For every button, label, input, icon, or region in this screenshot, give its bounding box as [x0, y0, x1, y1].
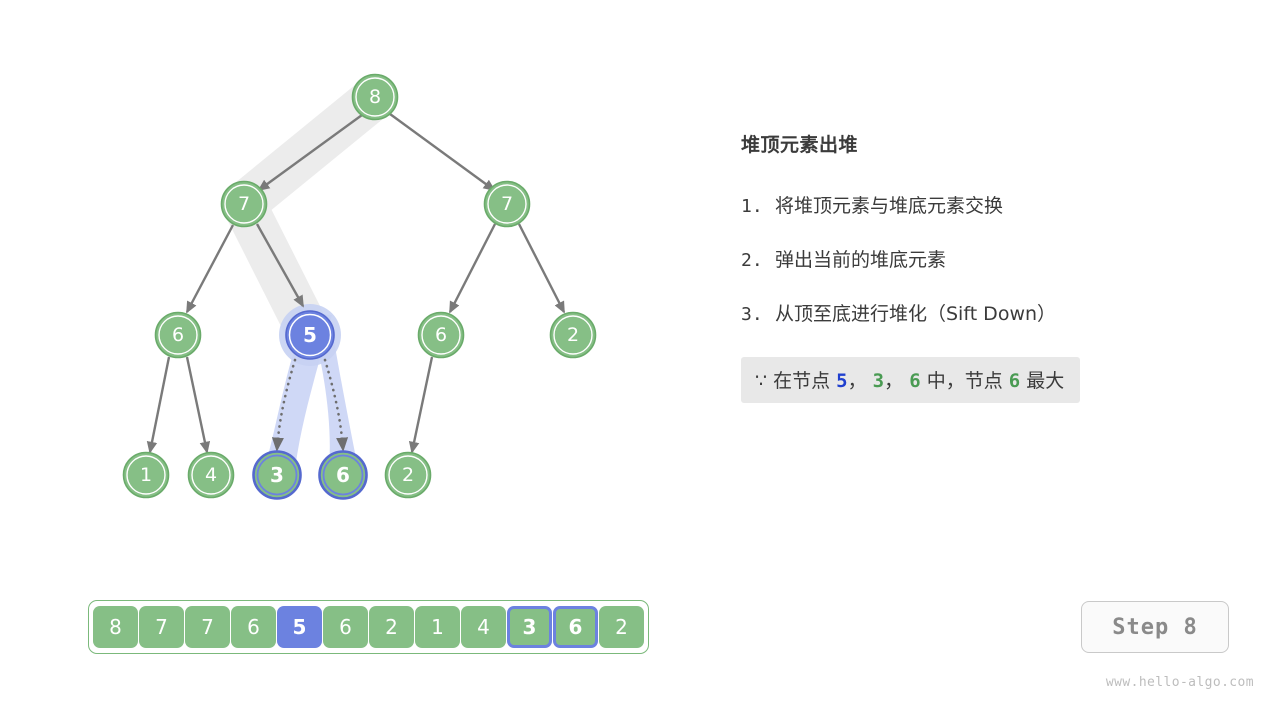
- binary-heap-tree: 8 7 7 6 5: [0, 0, 700, 560]
- explanation-panel: 堆顶元素出堆 1.将堆顶元素与堆底元素交换 2.弹出当前的堆底元素 3.从顶至底…: [741, 130, 1211, 403]
- step-item-2: 2.弹出当前的堆底元素: [741, 245, 1211, 272]
- array-cell-5[interactable]: 6: [323, 606, 368, 648]
- tree-node-2-a[interactable]: 2: [551, 313, 596, 358]
- array-cell-3[interactable]: 6: [231, 606, 276, 648]
- tree-node-8[interactable]: 8: [353, 75, 398, 120]
- tree-node-7-left[interactable]: 7: [222, 182, 267, 227]
- array-cell-4-selected[interactable]: 5: [277, 606, 322, 648]
- tree-node-label: 6: [435, 324, 447, 346]
- tree-node-label: 6: [336, 463, 350, 487]
- array-cell-10-marked[interactable]: 6: [553, 606, 598, 648]
- tree-node-label: 2: [402, 464, 414, 486]
- step-item-1: 1.将堆顶元素与堆底元素交换: [741, 191, 1211, 218]
- edge-7l-6: [187, 225, 233, 312]
- edge-8-7r: [390, 114, 494, 190]
- watermark: www.hello-algo.com: [1106, 675, 1254, 690]
- array-cell-0[interactable]: 8: [93, 606, 138, 648]
- array-cell-9-marked[interactable]: 3: [507, 606, 552, 648]
- formula-middle: 中，节点: [927, 370, 1003, 392]
- array-cell-1[interactable]: 7: [139, 606, 184, 648]
- tree-node-label: 1: [140, 464, 152, 486]
- tree-node-5-selected[interactable]: 5: [286, 311, 334, 359]
- step-text: 弹出当前的堆底元素: [775, 249, 946, 271]
- tree-node-label: 3: [270, 463, 284, 487]
- formula-comma-0: ，: [848, 370, 867, 392]
- formula-value-0: 5: [836, 370, 847, 392]
- tree-node-6-a[interactable]: 6: [156, 313, 201, 358]
- step-text: 将堆顶元素与堆底元素交换: [775, 195, 1003, 217]
- formula-value-2: 6: [909, 370, 920, 392]
- heap-array: 8 7 7 6 5 6 2 1 4 3 6 2: [88, 600, 649, 654]
- page-title: 堆顶元素出堆: [741, 130, 1211, 157]
- tree-node-label: 7: [238, 193, 250, 215]
- edge-7r-2: [519, 224, 564, 312]
- step-number: 1.: [741, 196, 775, 217]
- array-cell-2[interactable]: 7: [185, 606, 230, 648]
- formula-comma-1: ，: [884, 370, 903, 392]
- tree-node-label: 7: [501, 193, 513, 215]
- step-number: 2.: [741, 250, 775, 271]
- edge-6-1: [150, 357, 169, 452]
- tree-node-2-b[interactable]: 2: [386, 453, 431, 498]
- array-cell-6[interactable]: 2: [369, 606, 414, 648]
- edge-6r-2: [412, 357, 432, 452]
- tree-node-7-right[interactable]: 7: [485, 182, 530, 227]
- formula-winner: 6: [1009, 370, 1020, 392]
- tree-node-6-b[interactable]: 6: [419, 313, 464, 358]
- step-item-3: 3.从顶至底进行堆化（Sift Down）: [741, 299, 1211, 326]
- heap-pop-illustration: 8 7 7 6 5: [0, 0, 1280, 720]
- array-cell-8[interactable]: 4: [461, 606, 506, 648]
- tree-node-label: 8: [369, 86, 381, 108]
- tree-node-6-candidate[interactable]: 6: [320, 452, 367, 499]
- because-symbol: ∵: [755, 370, 767, 392]
- formula-prefix: 在节点: [773, 370, 830, 392]
- array-cell-7[interactable]: 1: [415, 606, 460, 648]
- edge-7r-6: [450, 224, 495, 312]
- tree-node-label: 2: [567, 324, 579, 346]
- edge-6-4: [187, 357, 207, 452]
- tree-node-3-candidate[interactable]: 3: [254, 452, 301, 499]
- step-badge: Step 8: [1081, 601, 1229, 653]
- array-cell-11[interactable]: 2: [599, 606, 644, 648]
- tree-node-1[interactable]: 1: [124, 453, 169, 498]
- reasoning-callout: ∵在节点 5， 3， 6 中，节点 6 最大: [741, 357, 1080, 403]
- tree-edges: [150, 114, 564, 452]
- tree-node-label: 6: [172, 324, 184, 346]
- tree-node-label: 5: [303, 323, 317, 347]
- step-number: 3.: [741, 304, 775, 325]
- tree-node-4[interactable]: 4: [189, 453, 234, 498]
- formula-suffix: 最大: [1026, 370, 1064, 392]
- step-text: 从顶至底进行堆化（Sift Down）: [775, 303, 1056, 325]
- tree-node-label: 4: [205, 464, 217, 486]
- formula-value-1: 3: [873, 370, 884, 392]
- tree-nodes: 8 7 7 6 5: [124, 75, 596, 499]
